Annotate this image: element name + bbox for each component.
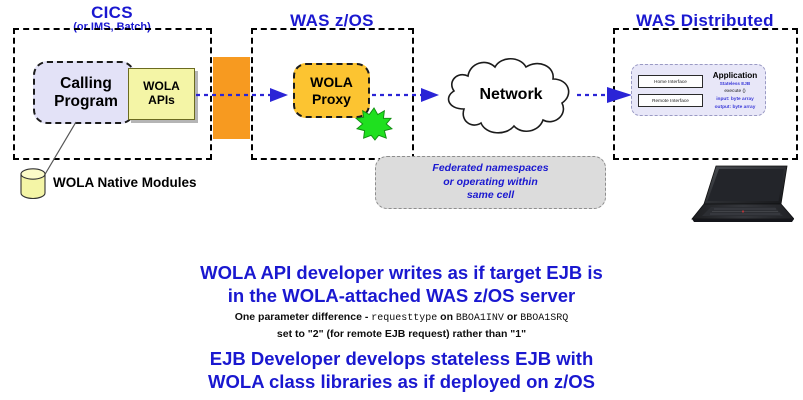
database-cylinder-icon [18, 167, 48, 201]
application-output: output: byte array [704, 105, 766, 110]
federated-line-2: or operating within [432, 176, 548, 190]
caption-2-line-2: WOLA class libraries as if deployed on z… [0, 371, 803, 394]
application-title: Application [704, 71, 766, 80]
home-interface-box: Home Interface [638, 75, 703, 88]
caption-1-line-1: WOLA API developer writes as if target E… [0, 262, 803, 285]
application-input: input: byte array [704, 97, 766, 102]
zone-title-cics-main: CICS [42, 4, 182, 22]
green-starburst-icon [355, 107, 393, 141]
parameter-note-line-1: One parameter difference - requesttype o… [0, 310, 803, 327]
federated-namespaces-text: Federated namespaces or operating within… [432, 162, 548, 204]
wola-apis-node: WOLAAPIs [128, 68, 195, 120]
note-text-c: or [504, 311, 520, 323]
flow-arrow-network-to-app [577, 85, 637, 105]
note-text-b: on [437, 311, 456, 323]
wola-proxy-label: WOLAProxy [310, 74, 353, 106]
application-method: execute () [704, 89, 766, 94]
network-label: Network [438, 86, 584, 104]
remote-interface-box: Remote Interface [638, 94, 703, 107]
flow-arrow-apis-to-proxy [196, 85, 291, 105]
federated-namespaces-note: Federated namespaces or operating within… [375, 156, 606, 209]
caption-block-1: WOLA API developer writes as if target E… [0, 262, 803, 307]
laptop-icon [686, 163, 794, 225]
calling-program-node: CallingProgram [33, 61, 135, 124]
native-modules-label: WOLA Native Modules [53, 175, 197, 190]
federated-line-1: Federated namespaces [432, 162, 548, 176]
federated-line-3: same cell [432, 189, 548, 203]
application-panel: Home Interface Remote Interface Applicat… [631, 64, 766, 116]
note-mono-bboa1srq: BBOA1SRQ [520, 313, 568, 324]
note-mono-requesttype: requesttype [371, 313, 437, 324]
flow-arrow-proxy-to-network [372, 85, 442, 105]
caption-block-2: EJB Developer develops stateless EJB wit… [0, 348, 803, 393]
parameter-note-line-2: set to "2" (for remote EJB request) rath… [0, 327, 803, 342]
note-mono-bboa1inv: BBOA1INV [456, 313, 504, 324]
calling-program-label: CallingProgram [44, 75, 128, 110]
application-subtitle: Stateless EJB [704, 81, 766, 86]
diagram-canvas: CICS (or IMS, Batch) WAS z/OS WAS Distri… [0, 0, 803, 400]
note-text-a: One parameter difference - [235, 311, 372, 323]
caption-2-line-1: EJB Developer develops stateless EJB wit… [0, 348, 803, 371]
wola-apis-label: WOLAAPIs [143, 80, 180, 108]
caption-parameter-note: One parameter difference - requesttype o… [0, 310, 803, 342]
caption-1-line-2: in the WOLA-attached WAS z/OS server [0, 285, 803, 308]
